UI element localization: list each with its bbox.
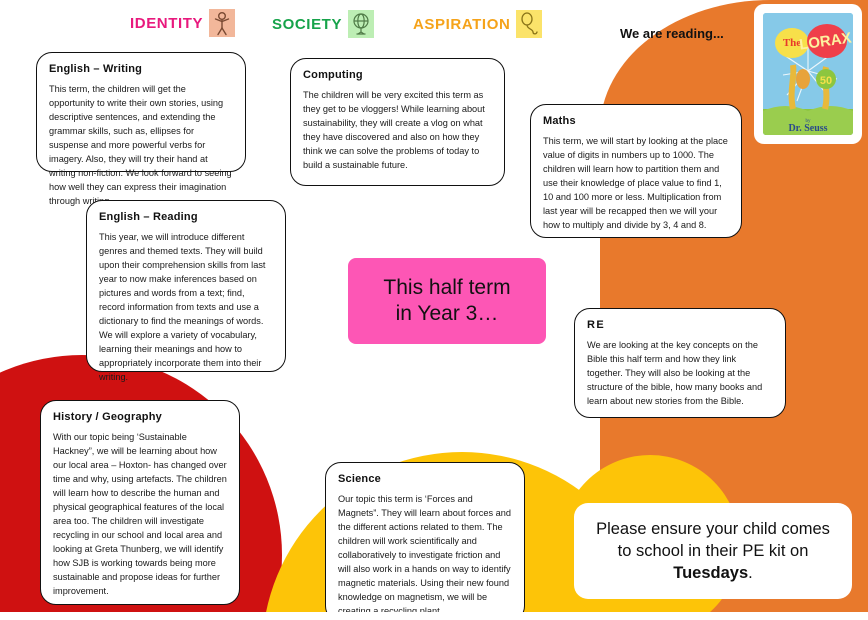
value-aspiration-label: ASPIRATION	[413, 16, 510, 33]
svg-text:50: 50	[820, 75, 832, 87]
card-history-geography: History / Geography With our topic being…	[40, 400, 240, 605]
value-society-label: SOCIETY	[272, 16, 342, 33]
card-title: Computing	[303, 69, 492, 81]
card-english-writing: English – Writing This term, the childre…	[36, 52, 246, 172]
pe-notice-suffix: .	[748, 564, 753, 582]
card-title: History / Geography	[53, 411, 227, 423]
card-science: Science Our topic this term is ‘Forces a…	[325, 462, 525, 620]
globe-icon	[348, 10, 374, 38]
card-body: This year, we will introduce different g…	[99, 231, 273, 385]
card-title: English – Writing	[49, 63, 233, 75]
value-society: SOCIETY	[272, 10, 374, 38]
card-body: This term, the children will get the opp…	[49, 83, 233, 209]
term-callout-line2: in Year 3…	[396, 302, 499, 325]
card-body: We are looking at the key concepts on th…	[587, 339, 773, 409]
svg-text:Dr. Seuss: Dr. Seuss	[788, 123, 827, 134]
value-aspiration: ASPIRATION	[413, 10, 542, 38]
pe-notice-text: Please ensure your child comes to school…	[596, 520, 830, 560]
balloon-icon	[516, 10, 542, 38]
card-title: Maths	[543, 115, 729, 127]
value-identity: IDENTITY	[130, 9, 235, 37]
card-re: RE We are looking at the key concepts on…	[574, 308, 786, 418]
poster-canvas: IDENTITY SOCIETY	[0, 0, 868, 620]
card-english-reading: English – Reading This year, we will int…	[86, 200, 286, 372]
card-body: With our topic being ‘Sustainable Hackne…	[53, 431, 227, 599]
pe-notice: Please ensure your child comes to school…	[574, 503, 852, 599]
card-title: English – Reading	[99, 211, 273, 223]
card-body: This term, we will start by looking at t…	[543, 135, 729, 233]
card-title: Science	[338, 473, 512, 485]
person-icon	[209, 9, 235, 37]
card-computing: Computing The children will be very exci…	[290, 58, 505, 186]
card-title: RE	[587, 319, 773, 331]
value-identity-label: IDENTITY	[130, 15, 203, 32]
pe-notice-day: Tuesdays	[673, 564, 748, 582]
values-header: IDENTITY SOCIETY	[0, 0, 600, 42]
bottom-white-strip	[0, 612, 868, 620]
card-body: Our topic this term is ‘Forces and Magne…	[338, 493, 512, 619]
card-body: The children will be very excited this t…	[303, 89, 492, 173]
term-callout: This half term in Year 3…	[348, 258, 546, 344]
book-cover-card: 50 The LORAX by Dr. Seuss	[754, 4, 862, 144]
card-maths: Maths This term, we will start by lookin…	[530, 104, 742, 238]
term-callout-line1: This half term	[383, 276, 510, 299]
reading-banner-label: We are reading...	[620, 26, 724, 41]
lorax-book-cover: 50 The LORAX by Dr. Seuss	[763, 13, 853, 135]
